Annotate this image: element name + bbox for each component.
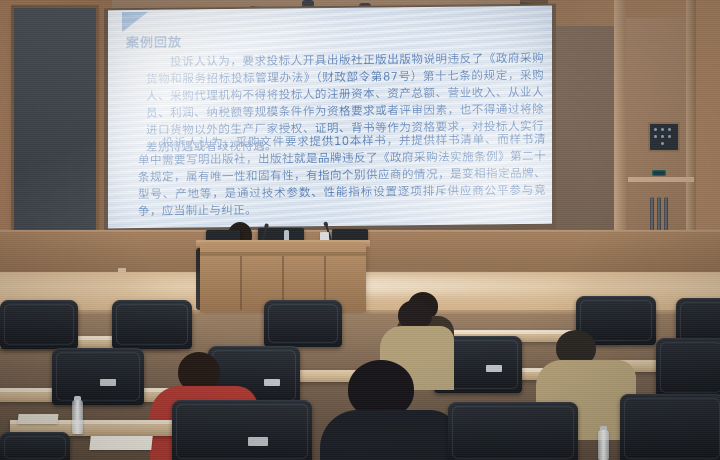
audience-chair-front[interactable] — [0, 432, 70, 460]
audience-chair[interactable] — [112, 300, 192, 349]
bottle-cap — [74, 396, 81, 400]
audience-chair-front[interactable] — [620, 394, 720, 460]
slide-paragraph-2: 投诉人认为，采购文件要求提供10本样书，并提供样书清单、而样书清单中需要写明出版… — [138, 131, 546, 220]
lecture-hall-photo: 案例回放 投诉人认为，要求投标人开具出版社正版出版物说明违反了《政府采购货物和服… — [0, 0, 720, 460]
wall-shelf-trim — [628, 177, 694, 182]
head-table-panel-seam — [240, 256, 242, 310]
audience-chair[interactable] — [264, 300, 342, 347]
projection-screen: 案例回放 投诉人认为，要求投标人开具出版社正版出版物说明违反了《政府采购货物和服… — [108, 6, 552, 229]
audience-chair[interactable] — [52, 348, 144, 405]
audience-chair[interactable] — [0, 300, 78, 349]
water-bottle[interactable] — [598, 430, 609, 460]
audience-chair[interactable] — [656, 338, 720, 397]
audience-chair-front[interactable] — [448, 402, 578, 460]
status-led-indicator — [652, 170, 666, 176]
bottle-cap — [600, 426, 607, 430]
audience-chair-front[interactable] — [172, 400, 312, 460]
wall-control-panel[interactable] — [648, 122, 680, 152]
slide-title: 案例回放 — [126, 32, 182, 52]
water-bottle[interactable] — [72, 400, 83, 434]
handout-paper[interactable] — [89, 436, 152, 450]
slide-corner-decoration — [122, 12, 148, 32]
handout-paper[interactable] — [17, 414, 58, 424]
